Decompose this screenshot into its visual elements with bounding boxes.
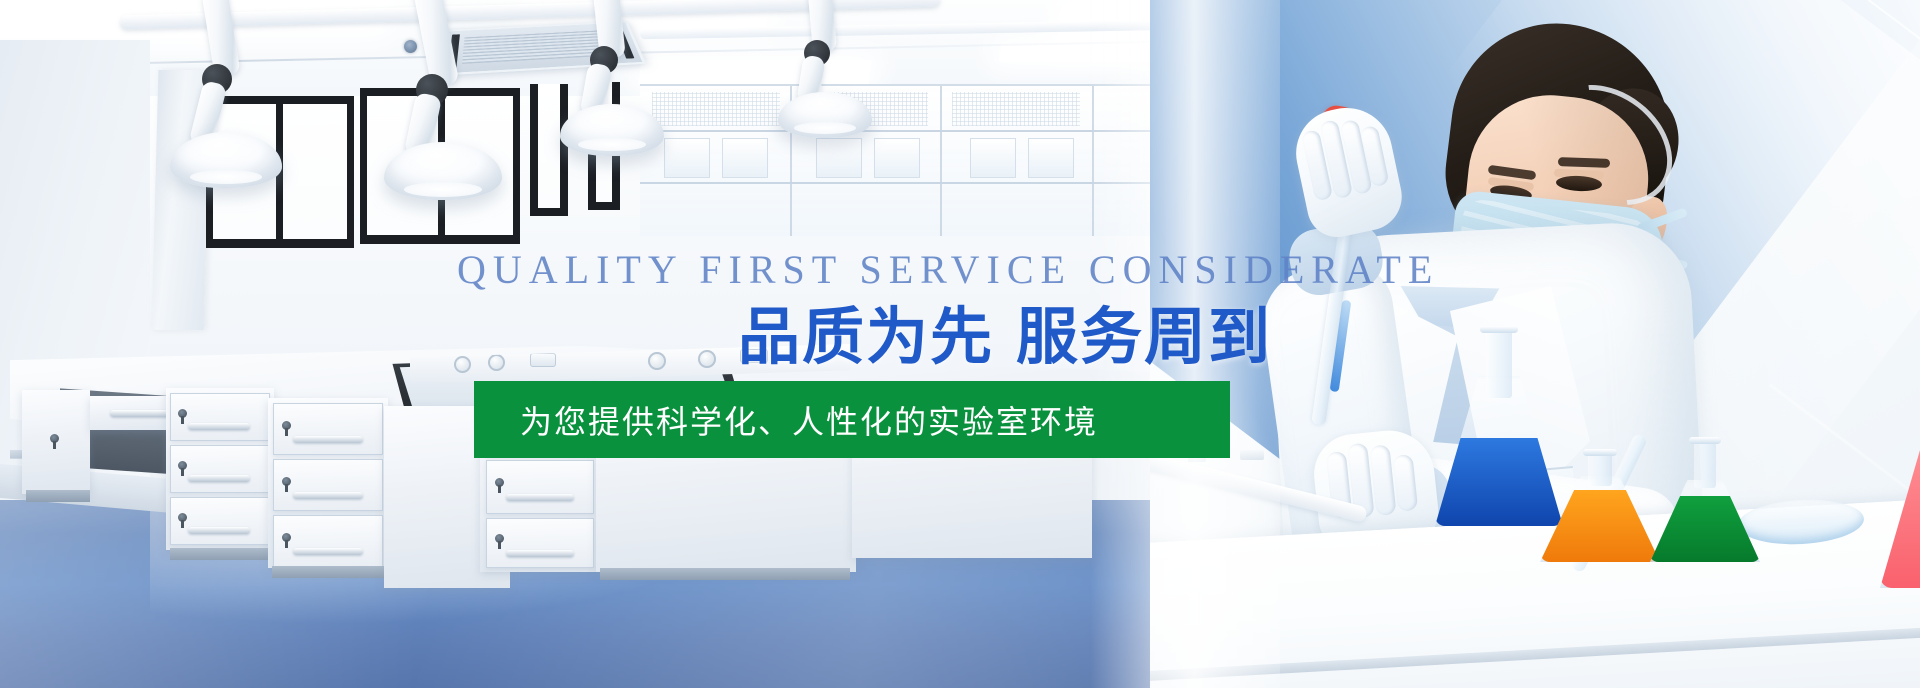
sprinkler-head-icon	[404, 40, 417, 53]
cabinet-kick-plate	[600, 568, 850, 580]
hero-banner: QUALITY FIRST SERVICE CONSIDERATE 品质为先服务…	[0, 0, 1920, 688]
erlenmeyer-flask-orange	[1540, 452, 1660, 562]
latex-glove-upper	[1288, 99, 1408, 242]
cabinet-kick-plate	[26, 490, 90, 502]
eyebrow-right	[1558, 157, 1610, 168]
cabinet-kick-plate	[170, 548, 270, 560]
subtitle-green-band: 为您提供科学化、人性化的实验室环境	[474, 381, 1230, 458]
subtitle-text: 为您提供科学化、人性化的实验室环境	[520, 397, 1098, 443]
cabinet-kick-plate	[272, 566, 384, 578]
headline-part-1: 品质为先	[738, 300, 994, 373]
bench-drawer-bank	[166, 388, 274, 550]
ceiling-light-panel	[638, 60, 871, 84]
bench-side-cabinet	[22, 390, 90, 494]
tagline-english: QUALITY FIRST SERVICE CONSIDERATE	[457, 246, 1439, 293]
window	[530, 84, 568, 216]
erlenmeyer-flask-green	[1650, 440, 1760, 562]
headline-part-2: 服务周到	[1016, 300, 1272, 373]
headline-chinese: 品质为先服务周到	[738, 298, 1272, 376]
erlenmeyer-flask-pink	[1880, 360, 1920, 588]
bench-drawer-bank	[268, 398, 388, 568]
small-label-chip	[1240, 450, 1264, 460]
